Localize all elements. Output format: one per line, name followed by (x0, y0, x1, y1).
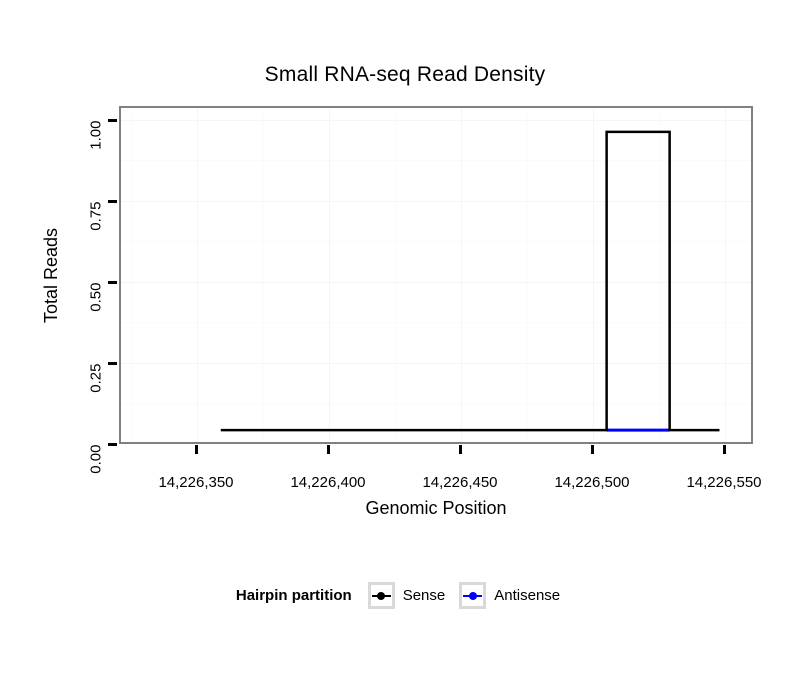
x-axis-tick (459, 445, 462, 454)
legend-key-sense-icon (368, 582, 395, 609)
y-axis-tick (108, 200, 117, 203)
y-tick-label-5: 0.00 (88, 445, 105, 541)
x-tick-label-4: 14,226,500 (522, 474, 662, 491)
x-axis-tick (591, 445, 594, 454)
chart-figure: Small RNA-seq Read Density Total Reads 1… (0, 0, 810, 690)
y-axis-title: Total Reads (42, 106, 62, 444)
y-axis-tick (108, 281, 117, 284)
y-axis-tick (108, 362, 117, 365)
series-line-sense (221, 132, 720, 430)
x-axis-tick (723, 445, 726, 454)
data-series-layer (121, 108, 751, 442)
x-axis-tick (327, 445, 330, 454)
chart-title: Small RNA-seq Read Density (0, 63, 810, 87)
y-axis-tick (108, 119, 117, 122)
legend-key-dot (377, 592, 385, 600)
plot-panel (119, 106, 753, 444)
legend-key-antisense-icon (459, 582, 486, 609)
legend-title: Hairpin partition (236, 587, 352, 604)
y-axis-title-text: Total Reads (42, 227, 63, 322)
x-tick-label-5: 14,226,550 (654, 474, 794, 491)
x-tick-label-1: 14,226,350 (126, 474, 266, 491)
x-tick-label-2: 14,226,400 (258, 474, 398, 491)
legend-label-sense: Sense (403, 587, 446, 604)
legend-item-antisense[interactable]: Antisense (459, 582, 560, 609)
x-tick-label-3: 14,226,450 (390, 474, 530, 491)
legend-key-dot (469, 592, 477, 600)
x-axis-tick (195, 445, 198, 454)
legend: Hairpin partition Sense Antisense (0, 582, 810, 609)
legend-item-sense[interactable]: Sense (368, 582, 446, 609)
plot-area (121, 108, 751, 442)
x-axis-title: Genomic Position (119, 498, 753, 519)
y-axis-tick (108, 443, 117, 446)
legend-label-antisense: Antisense (494, 587, 560, 604)
